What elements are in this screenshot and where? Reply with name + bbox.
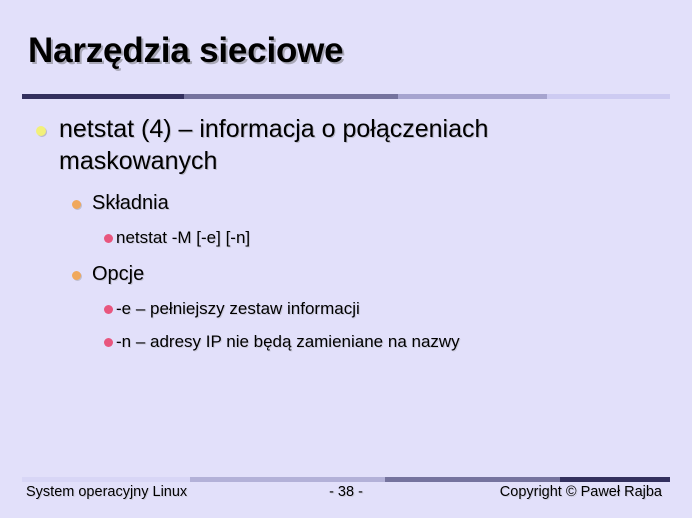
title-area: Narzędzia sieciowe (28, 33, 664, 70)
footer-divider-segment-1 (22, 477, 190, 482)
slide-canvas: Narzędzia sieciowe netstat (4) – informa… (0, 0, 692, 518)
footer-divider-segment-2 (190, 477, 384, 482)
outline-item-level2: Opcje (0, 262, 692, 287)
header-divider (22, 94, 670, 99)
footer-divider (22, 477, 670, 482)
bullet-dot-icon (36, 126, 46, 136)
bullet-dot-icon (104, 234, 113, 243)
footer-copyright: Copyright © Paweł Rajba (500, 484, 662, 500)
outline-item-text: Opcje (92, 262, 144, 287)
slide-footer: System operacyjny Linux - 38 - Copyright… (0, 484, 692, 506)
header-divider-segment-2 (184, 94, 398, 99)
outline-item-level3: -n – adresy IP nie będą zamieniane na na… (0, 331, 692, 352)
outline-item-text: -n – adresy IP nie będą zamieniane na na… (116, 331, 460, 352)
bullet-dot-icon (72, 271, 81, 280)
header-divider-segment-1 (22, 94, 184, 99)
header-divider-segment-3 (398, 94, 547, 99)
page-title: Narzędzia sieciowe (28, 33, 664, 70)
footer-divider-segment-3 (385, 477, 560, 482)
outline-item-text: netstat (4) – informacja o połączeniach … (59, 114, 564, 177)
header-divider-segment-4 (547, 94, 670, 99)
outline-item-level3: -e – pełniejszy zestaw informacji (0, 298, 692, 319)
bullet-dot-icon (72, 200, 81, 209)
bullet-dot-icon (104, 305, 113, 314)
footer-divider-segment-4 (560, 477, 670, 482)
outline-item-text: -e – pełniejszy zestaw informacji (116, 298, 360, 319)
content-outline: netstat (4) – informacja o połączeniach … (0, 114, 692, 352)
bullet-dot-icon (104, 338, 113, 347)
outline-item-text: Składnia (92, 191, 169, 216)
outline-item-text: netstat -M [-e] [-n] (116, 227, 250, 248)
outline-item-level3: netstat -M [-e] [-n] (0, 227, 692, 248)
outline-item-level1: netstat (4) – informacja o połączeniach … (0, 114, 692, 177)
outline-item-level2: Składnia (0, 191, 692, 216)
